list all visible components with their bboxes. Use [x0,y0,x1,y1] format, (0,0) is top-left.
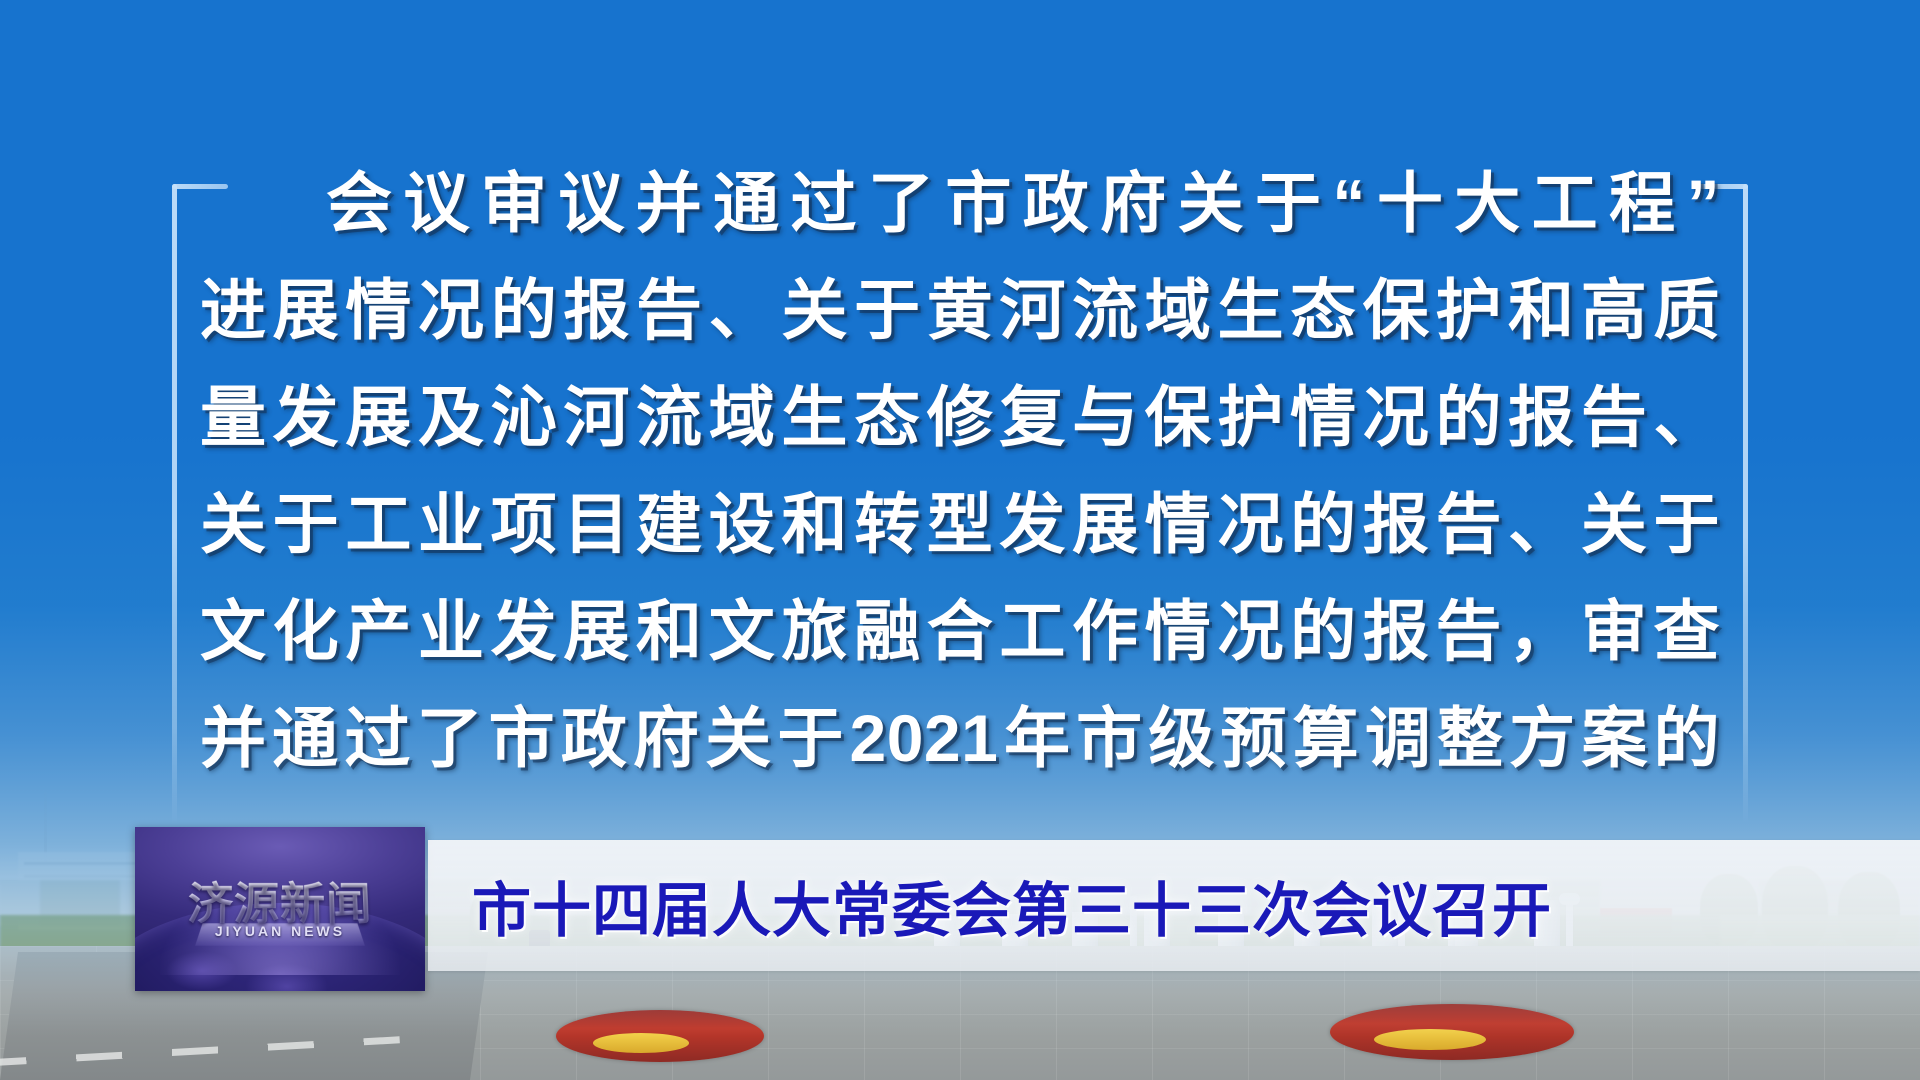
headline-title: 市十四届人大常委会第三十三次会议召开 [472,863,1552,948]
subtitle-line-3: 量发展及沁河流域生态修复与保护情况的报告、 [200,364,1720,471]
broadcast-frame: 会议审议并通过了市政府关于“十大工程” 进展情况的报告、关于黄河流域生态保护和高… [0,0,1920,1080]
subtitle-line-6: 并通过了市政府关于2021年市级预算调整方案的 [200,685,1720,792]
channel-logo-bug: 济源新闻 JIYUAN NEWS [135,827,425,991]
subtitle-line-2: 进展情况的报告、关于黄河流域生态保护和高质 [200,257,1720,364]
subtitle-line-1: 会议审议并通过了市政府关于“十大工程” [200,150,1720,257]
headline-band: 市十四届人大常委会第三十三次会议召开 [428,840,1920,971]
subtitle-text-block: 会议审议并通过了市政府关于“十大工程” 进展情况的报告、关于黄河流域生态保护和高… [200,150,1720,792]
channel-name-en: JIYUAN NEWS [135,923,425,939]
subtitle-line-5: 文化产业发展和文旅融合工作情况的报告，审查 [200,578,1720,685]
subtitle-line-4: 关于工业项目建设和转型发展情况的报告、关于 [200,471,1720,578]
